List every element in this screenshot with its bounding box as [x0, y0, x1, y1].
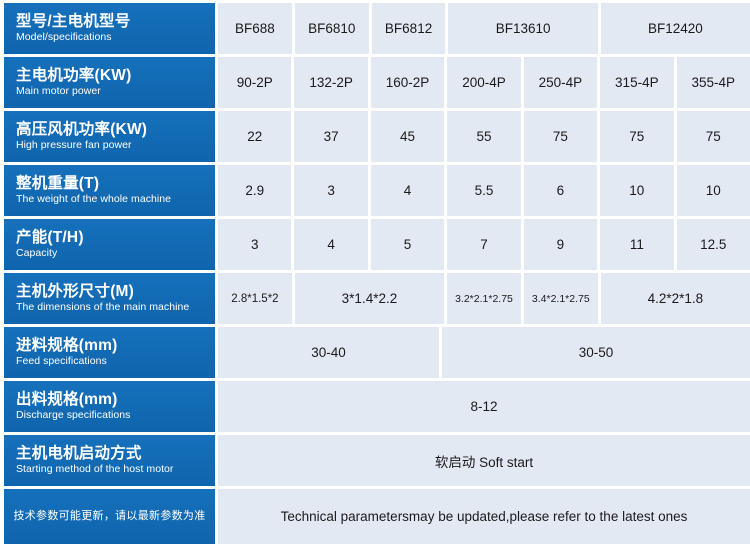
row-label-cn: 出料规格(mm) [16, 391, 209, 408]
table-cell: BF12420 [601, 3, 750, 54]
row-label-cn: 主机外形尺寸(M) [16, 283, 209, 300]
table-cell: 37 [294, 111, 367, 162]
table-cell: 90-2P [218, 57, 291, 108]
row-label-cn: 主机电机启动方式 [16, 445, 209, 462]
row-label-cn: 产能(T/H) [16, 229, 209, 246]
table-cell: BF6810 [295, 3, 369, 54]
table-cell: 软启动 Soft start [218, 435, 750, 486]
table-cell: 30-50 [442, 327, 750, 378]
row-label-9: 技术参数可能更新，请以最新参数为准 [4, 489, 215, 544]
table-cell: 6 [524, 165, 597, 216]
table-cell: 11 [600, 219, 673, 270]
table-cell: 200-4P [447, 57, 520, 108]
table-cell: BF688 [218, 3, 292, 54]
row-values: 90-2P132-2P160-2P200-4P250-4P315-4P355-4… [218, 57, 750, 108]
row-label-en: Model/specifications [16, 32, 209, 44]
table-cell: 3.4*2.1*2.75 [524, 273, 598, 324]
table-row: 产能(T/H)Capacity345791112.5 [4, 219, 750, 270]
table-cell: 3 [294, 165, 367, 216]
row-label-cn: 主电机功率(KW) [16, 67, 209, 84]
table-cell: 12.5 [677, 219, 750, 270]
table-cell: 3*1.4*2.2 [295, 273, 444, 324]
row-values: 2.8*1.5*23*1.4*2.23.2*2.1*2.753.4*2.1*2.… [218, 273, 750, 324]
row-label-en: Capacity [16, 248, 209, 260]
table-row: 主机电机启动方式Starting method of the host moto… [4, 435, 750, 486]
table-cell: 2.8*1.5*2 [218, 273, 292, 324]
table-cell: 5 [371, 219, 444, 270]
table-row: 技术参数可能更新，请以最新参数为准Technical parametersmay… [4, 489, 750, 544]
row-label-5: 主机外形尺寸(M)The dimensions of the main mach… [4, 273, 215, 324]
table-cell: 75 [600, 111, 673, 162]
table-row: 主机外形尺寸(M)The dimensions of the main mach… [4, 273, 750, 324]
row-label-en: Feed specifications [16, 356, 209, 368]
table-cell: 30-40 [218, 327, 439, 378]
table-cell: 7 [447, 219, 520, 270]
table-cell: 9 [524, 219, 597, 270]
row-label-cn: 进料规格(mm) [16, 337, 209, 354]
row-label-4: 产能(T/H)Capacity [4, 219, 215, 270]
row-label-7: 出料规格(mm)Discharge specifications [4, 381, 215, 432]
table-cell: 22 [218, 111, 291, 162]
table-cell: BF13610 [448, 3, 597, 54]
table-cell: 55 [447, 111, 520, 162]
row-values: 22374555757575 [218, 111, 750, 162]
row-label-en: The dimensions of the main machine [16, 302, 209, 314]
table-cell: 132-2P [294, 57, 367, 108]
table-cell: 250-4P [524, 57, 597, 108]
table-cell: 75 [677, 111, 750, 162]
row-label-0: 型号/主电机型号Model/specifications [4, 3, 215, 54]
row-values: 8-12 [218, 381, 750, 432]
row-label-cn: 高压风机功率(KW) [16, 121, 209, 138]
table-row: 进料规格(mm)Feed specifications30-4030-50 [4, 327, 750, 378]
table-cell: 45 [371, 111, 444, 162]
table-row: 出料规格(mm)Discharge specifications8-12 [4, 381, 750, 432]
table-cell: 5.5 [447, 165, 520, 216]
table-cell: BF6812 [372, 3, 446, 54]
table-cell: 10 [677, 165, 750, 216]
table-row: 主电机功率(KW)Main motor power90-2P132-2P160-… [4, 57, 750, 108]
table-cell: 75 [524, 111, 597, 162]
table-cell: 355-4P [677, 57, 750, 108]
row-label-3: 整机重量(T)The weight of the whole machine [4, 165, 215, 216]
row-label-6: 进料规格(mm)Feed specifications [4, 327, 215, 378]
row-values: 软启动 Soft start [218, 435, 750, 486]
row-label-en: The weight of the whole machine [16, 194, 209, 206]
table-cell: 315-4P [600, 57, 673, 108]
specification-table: 型号/主电机型号Model/specificationsBF688BF6810B… [0, 0, 750, 527]
row-label-cn: 整机重量(T) [16, 175, 209, 192]
table-cell: 3.2*2.1*2.75 [447, 273, 521, 324]
row-label-cn: 技术参数可能更新，请以最新参数为准 [13, 510, 205, 522]
row-label-8: 主机电机启动方式Starting method of the host moto… [4, 435, 215, 486]
row-label-en: Discharge specifications [16, 410, 209, 422]
table-cell: 160-2P [371, 57, 444, 108]
row-values: 2.9345.561010 [218, 165, 750, 216]
row-values: 345791112.5 [218, 219, 750, 270]
table-cell: Technical parametersmay be updated,pleas… [218, 489, 750, 544]
table-cell: 4.2*2*1.8 [601, 273, 750, 324]
table-cell: 8-12 [218, 381, 750, 432]
table-cell: 3 [218, 219, 291, 270]
table-cell: 10 [600, 165, 673, 216]
row-label-en: Starting method of the host motor [16, 464, 209, 476]
row-values: BF688BF6810BF6812BF13610BF12420 [218, 3, 750, 54]
row-label-cn: 型号/主电机型号 [16, 13, 209, 30]
row-label-2: 高压风机功率(KW)High pressure fan power [4, 111, 215, 162]
table-row: 整机重量(T)The weight of the whole machine2.… [4, 165, 750, 216]
row-label-1: 主电机功率(KW)Main motor power [4, 57, 215, 108]
table-cell: 4 [294, 219, 367, 270]
row-values: 30-4030-50 [218, 327, 750, 378]
table-row: 型号/主电机型号Model/specificationsBF688BF6810B… [4, 3, 750, 54]
table-row: 高压风机功率(KW)High pressure fan power2237455… [4, 111, 750, 162]
row-label-en: High pressure fan power [16, 140, 209, 152]
row-values: Technical parametersmay be updated,pleas… [218, 489, 750, 544]
table-cell: 4 [371, 165, 444, 216]
table-cell: 2.9 [218, 165, 291, 216]
row-label-en: Main motor power [16, 86, 209, 98]
